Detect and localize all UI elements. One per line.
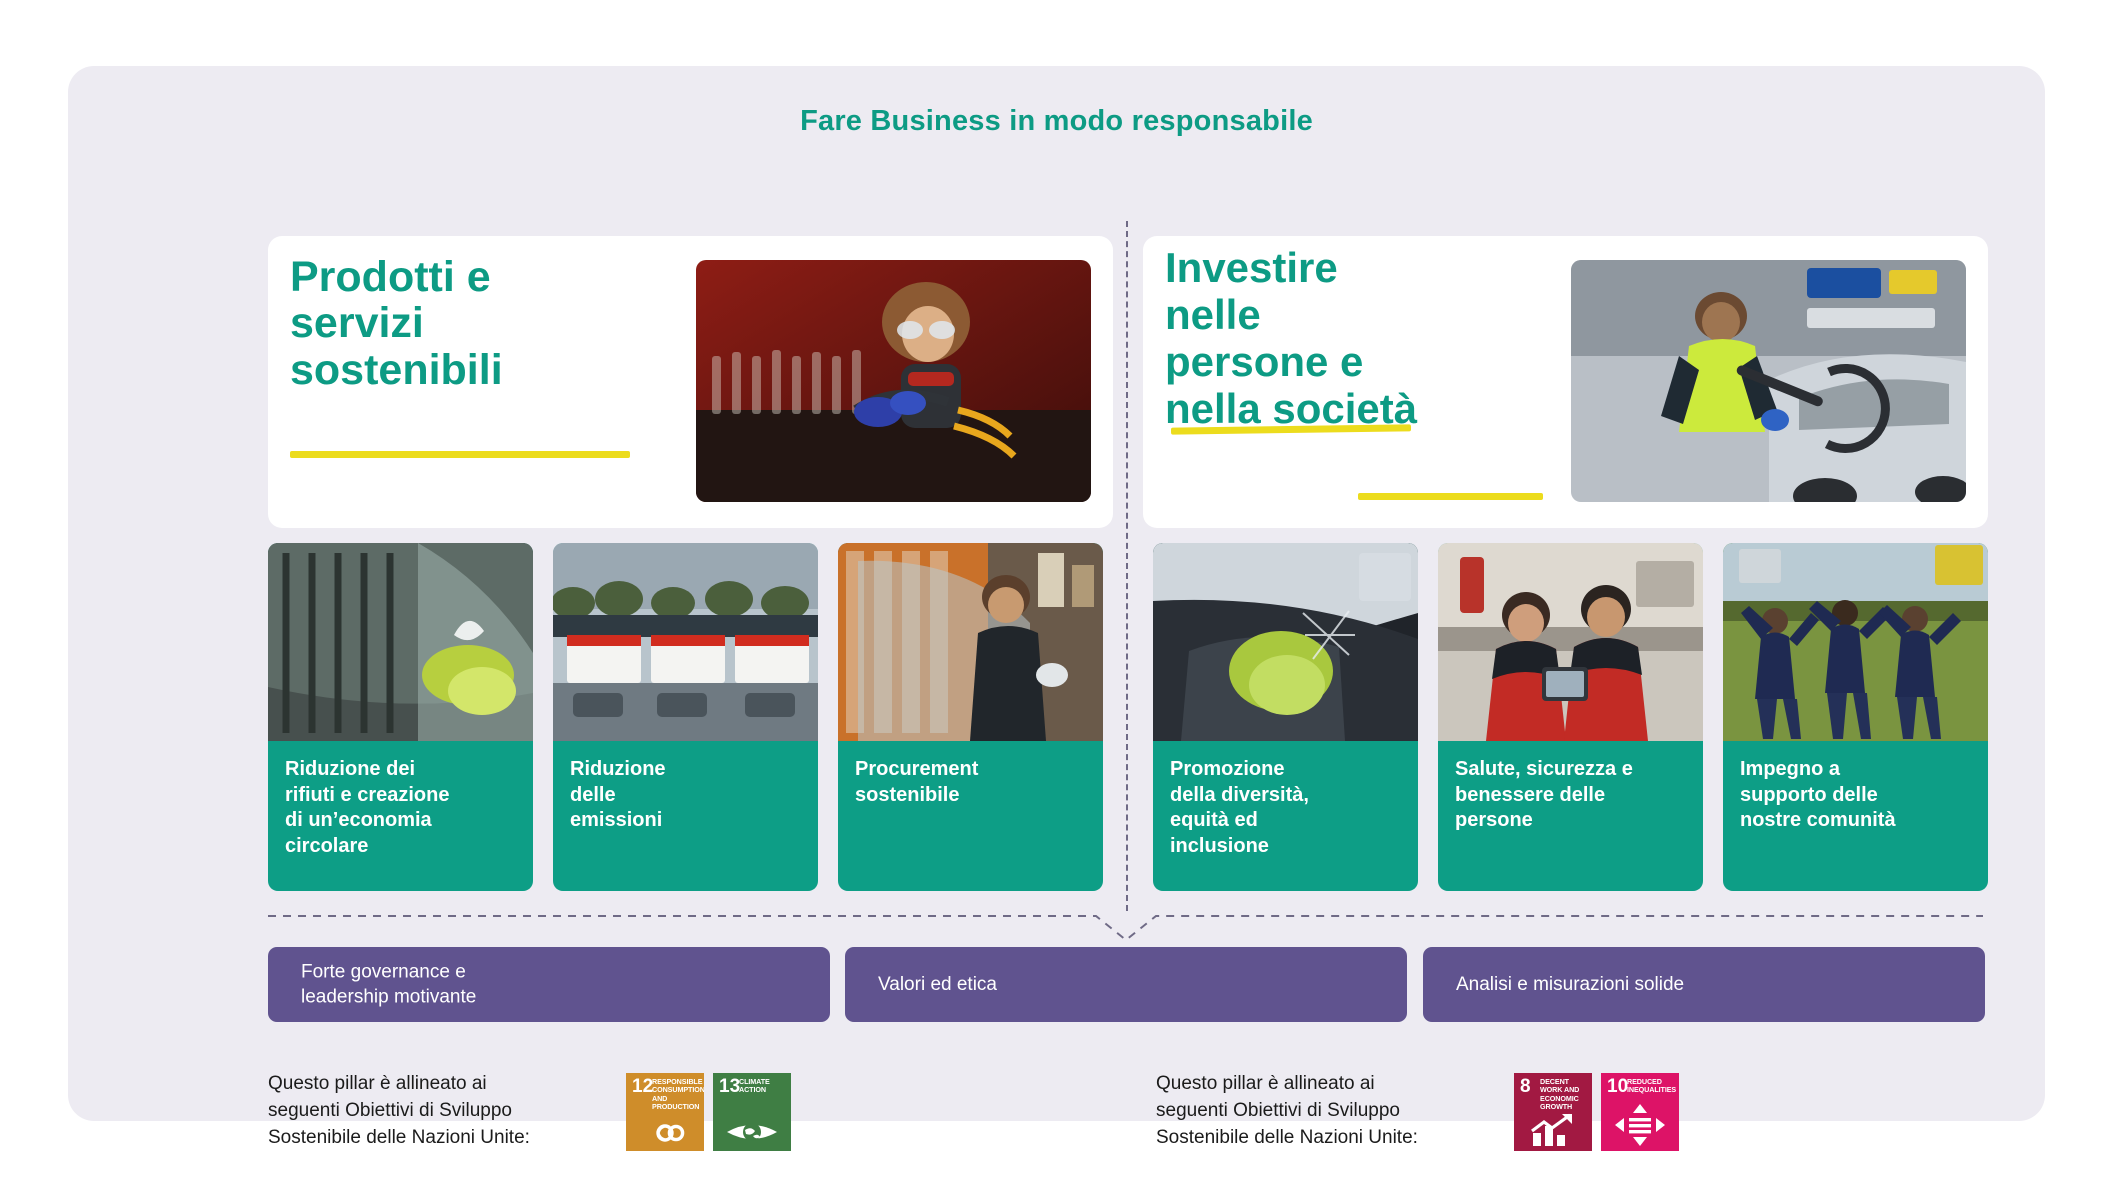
topic-label-3: Promozione della diversità, equità ed in… bbox=[1153, 741, 1418, 859]
sdg-badge-10: 10 REDUCED INEQUALITIES bbox=[1601, 1073, 1679, 1151]
sdg-badge-13: 13 CLIMATE ACTION bbox=[713, 1073, 791, 1151]
topic-label-2: Procurement sostenibile bbox=[838, 741, 1103, 808]
infographic-panel: Fare Business in modo responsabile Prodo… bbox=[68, 66, 2045, 1121]
page-title: Fare Business in modo responsabile bbox=[68, 105, 2045, 138]
pillar-connector-dashed bbox=[268, 904, 1983, 944]
infinity-icon bbox=[626, 1119, 704, 1147]
enabler-bar-valori-etica[interactable]: Valori ed etica bbox=[845, 947, 1407, 1022]
sdg-note-right: Questo pillar è allineato ai seguenti Ob… bbox=[1156, 1071, 1486, 1152]
sdg-name-12: RESPONSIBLE CONSUMPTION AND PRODUCTION bbox=[652, 1078, 701, 1111]
pillar-title-right: Investire nelle persone e nella società bbox=[1165, 244, 1417, 432]
pillar-divider-vertical bbox=[1126, 221, 1128, 911]
pillar-title-left: Prodotti e servizi sostenibili bbox=[290, 254, 503, 393]
sdg-number-12: 12 bbox=[632, 1077, 653, 1096]
sdg-name-10: REDUCED INEQUALITIES bbox=[1627, 1078, 1676, 1095]
topic-label-4: Salute, sicurezza e benessere delle pers… bbox=[1438, 741, 1703, 834]
topic-photo-0 bbox=[268, 543, 533, 741]
topic-card-salute-sicurezza-benessere[interactable]: Salute, sicurezza e benessere delle pers… bbox=[1438, 543, 1703, 891]
topic-photo-3 bbox=[1153, 543, 1418, 741]
sdg-alignment-left: Questo pillar è allineato ai seguenti Ob… bbox=[268, 1071, 791, 1152]
sdg-number-10: 10 bbox=[1607, 1077, 1628, 1096]
topic-photo-1 bbox=[553, 543, 818, 741]
topic-card-riduzione-rifiuti[interactable]: Riduzione dei rifiuti e creazione di un’… bbox=[268, 543, 533, 891]
sdg-number-8: 8 bbox=[1520, 1077, 1531, 1096]
sdg-alignment-right: Questo pillar è allineato ai seguenti Ob… bbox=[1156, 1071, 1679, 1152]
topic-label-0: Riduzione dei rifiuti e creazione di un’… bbox=[268, 741, 533, 859]
growth-chart-icon bbox=[1514, 1113, 1592, 1147]
topic-card-impegno-comunita[interactable]: Impegno a supporto delle nostre comunità bbox=[1723, 543, 1988, 891]
title-underline-left bbox=[290, 451, 630, 458]
sdg-note-left: Questo pillar è allineato ai seguenti Ob… bbox=[268, 1071, 598, 1152]
equals-arrows-icon bbox=[1601, 1103, 1679, 1147]
topic-photo-5 bbox=[1723, 543, 1988, 741]
topic-label-5: Impegno a supporto delle nostre comunità bbox=[1723, 741, 1988, 834]
topic-card-diversita-equita-inclusione[interactable]: Promozione della diversità, equità ed in… bbox=[1153, 543, 1418, 891]
topic-photo-2 bbox=[838, 543, 1103, 741]
topic-photo-4 bbox=[1438, 543, 1703, 741]
pillar-hero-card-sustainable-products: Prodotti e servizi sostenibili bbox=[268, 236, 1113, 528]
pillar-hero-card-people-and-society: Investire nelle persone e nella società bbox=[1143, 236, 1988, 528]
topic-label-1: Riduzione delle emissioni bbox=[553, 741, 818, 834]
pillar-photo-left bbox=[696, 260, 1091, 502]
enabler-bar-analisi-misurazioni[interactable]: Analisi e misurazioni solide bbox=[1423, 947, 1985, 1022]
enabler-label-1: Valori ed etica bbox=[878, 972, 997, 998]
sdg-name-8: DECENT WORK AND ECONOMIC GROWTH bbox=[1540, 1078, 1589, 1111]
topic-card-procurement-sostenibile[interactable]: Procurement sostenibile bbox=[838, 543, 1103, 891]
sdg-number-13: 13 bbox=[719, 1077, 740, 1096]
sdg-badge-list-left: 12 RESPONSIBLE CONSUMPTION AND PRODUCTIO… bbox=[626, 1073, 791, 1151]
topic-card-riduzione-emissioni[interactable]: Riduzione delle emissioni bbox=[553, 543, 818, 891]
sdg-badge-12: 12 RESPONSIBLE CONSUMPTION AND PRODUCTIO… bbox=[626, 1073, 704, 1151]
title-underline-right-societa bbox=[1358, 493, 1543, 500]
sdg-name-13: CLIMATE ACTION bbox=[739, 1078, 788, 1095]
enabler-label-2: Analisi e misurazioni solide bbox=[1456, 972, 1684, 998]
eye-earth-icon bbox=[713, 1117, 791, 1147]
enabler-bar-governance[interactable]: Forte governance e leadership motivante bbox=[268, 947, 830, 1022]
enabler-label-0: Forte governance e leadership motivante bbox=[301, 959, 476, 1010]
sdg-badge-8: 8 DECENT WORK AND ECONOMIC GROWTH bbox=[1514, 1073, 1592, 1151]
pillar-photo-right bbox=[1571, 260, 1966, 502]
sdg-badge-list-right: 8 DECENT WORK AND ECONOMIC GROWTH 10 RED… bbox=[1514, 1073, 1679, 1151]
